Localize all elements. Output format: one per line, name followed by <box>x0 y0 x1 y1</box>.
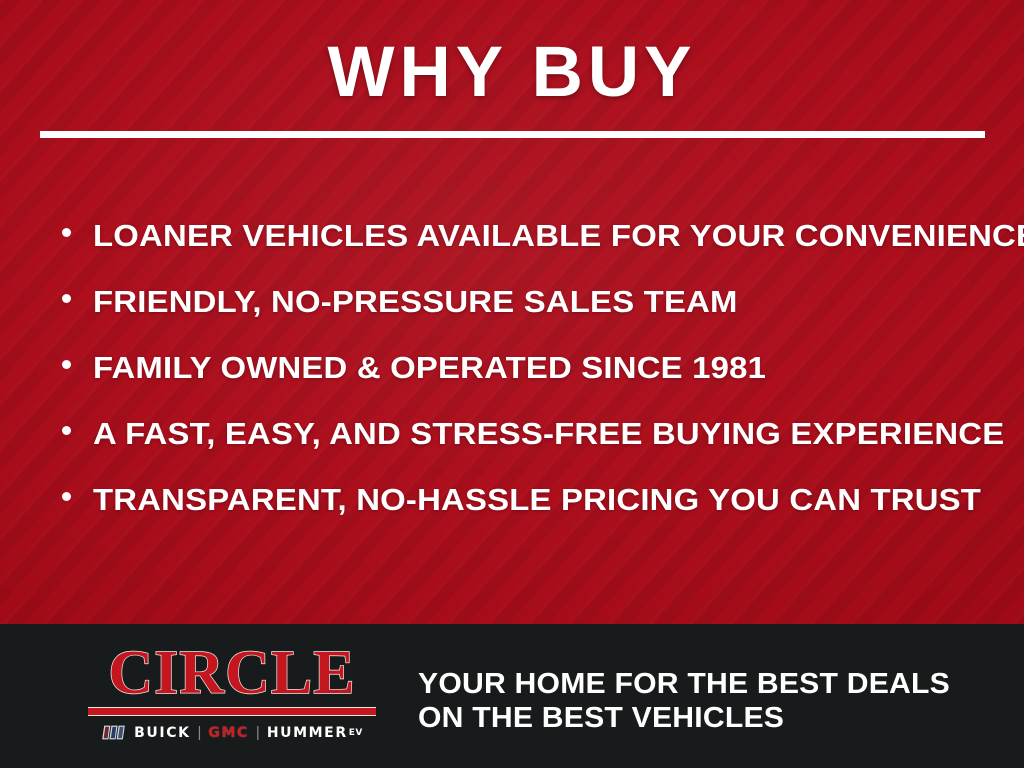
logo-underline-bar <box>88 707 376 716</box>
buick-tri-shield-icon <box>101 725 127 740</box>
slide-body: WHY BUY LOANER VEHICLES AVAILABLE FOR YO… <box>0 0 1024 624</box>
bullet-dot-icon <box>62 492 71 501</box>
why-buy-slide: WHY BUY LOANER VEHICLES AVAILABLE FOR YO… <box>0 0 1024 768</box>
list-item: FAMILY OWNED & OPERATED SINCE 1981 <box>62 350 982 416</box>
bullet-dot-icon <box>62 294 71 303</box>
tagline-line-1: YOUR HOME FOR THE BEST DEALS <box>418 667 950 701</box>
dealer-logo: CIRCLE BUICK | GMC | <box>88 642 376 742</box>
bullet-dot-icon <box>62 228 71 237</box>
dealer-wordmark: CIRCLE <box>88 642 376 704</box>
list-item: FRIENDLY, NO-PRESSURE SALES TEAM <box>62 284 982 350</box>
footer-tagline: YOUR HOME FOR THE BEST DEALS ON THE BEST… <box>418 667 950 735</box>
brand-label-hummer: HUMMER <box>267 726 348 740</box>
list-item: TRANSPARENT, NO-HASSLE PRICING YOU CAN T… <box>62 482 982 548</box>
brand-label-ev: EV <box>349 726 363 740</box>
tagline-line-2: ON THE BEST VEHICLES <box>418 701 950 735</box>
brand-separator: | <box>256 726 260 740</box>
brand-label-buick: BUICK <box>134 726 190 740</box>
list-item-label: A FAST, EASY, AND STRESS-FREE BUYING EXP… <box>93 416 1004 452</box>
brand-lineup: BUICK | GMC | HUMMER EV <box>88 723 376 742</box>
list-item-label: FAMILY OWNED & OPERATED SINCE 1981 <box>93 350 766 386</box>
brand-separator: | <box>198 726 202 740</box>
bullet-dot-icon <box>62 360 71 369</box>
list-item: A FAST, EASY, AND STRESS-FREE BUYING EXP… <box>62 416 982 482</box>
slide-footer: CIRCLE BUICK | GMC | <box>0 624 1024 768</box>
benefits-list: LOANER VEHICLES AVAILABLE FOR YOUR CONVE… <box>62 218 982 548</box>
page-title: WHY BUY <box>0 36 1024 110</box>
list-item-label: LOANER VEHICLES AVAILABLE FOR YOUR CONVE… <box>93 218 1024 254</box>
list-item-label: FRIENDLY, NO-PRESSURE SALES TEAM <box>93 284 738 320</box>
list-item-label: TRANSPARENT, NO-HASSLE PRICING YOU CAN T… <box>93 482 981 518</box>
list-item: LOANER VEHICLES AVAILABLE FOR YOUR CONVE… <box>62 218 982 284</box>
brand-label-gmc: GMC <box>208 726 249 740</box>
bullet-dot-icon <box>62 426 71 435</box>
title-divider <box>40 131 985 138</box>
